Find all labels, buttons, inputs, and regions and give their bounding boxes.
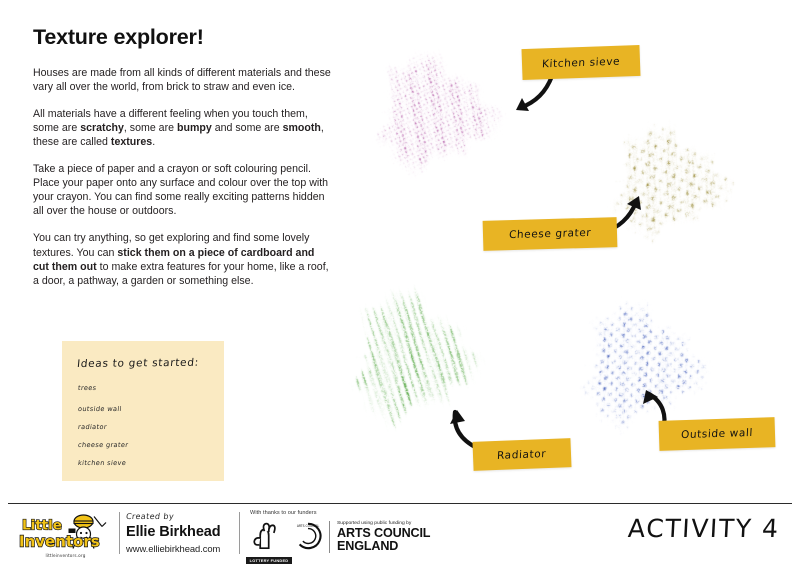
footer-divider xyxy=(8,503,792,504)
plain-text: and some are xyxy=(212,122,283,134)
page-title: Texture explorer! xyxy=(33,26,333,50)
funders-title: With thanks to our funders xyxy=(250,510,430,516)
callout-cheese-grater: Cheese grater xyxy=(483,217,618,251)
plain-text: Houses are made from all kinds of differ… xyxy=(33,67,331,93)
emphasis-text: scratchy xyxy=(80,122,124,134)
logo-text-inventors: Inventors xyxy=(19,533,100,551)
ace-name-line2: ENGLAND xyxy=(337,540,430,553)
lottery-funded-label: LOTTERY FUNDED xyxy=(246,557,292,564)
idea-list-item: trees xyxy=(78,384,219,392)
plain-text: , some are xyxy=(124,122,177,134)
callout-outside-wall: Outside wall xyxy=(659,417,776,451)
callout-outside-wall-label: Outside wall xyxy=(681,427,754,441)
callout-kitchen-sieve: Kitchen sieve xyxy=(521,45,640,80)
idea-list-item: cheese grater xyxy=(78,441,219,449)
arts-council-ring-icon: ARTS COUNCIL xyxy=(294,522,322,550)
callout-cheese-grater-label: Cheese grater xyxy=(509,227,592,241)
body-paragraph: Houses are made from all kinds of differ… xyxy=(33,66,333,94)
kitchen-sieve-texture xyxy=(352,38,512,188)
activity-number: ACTIVITY 4 xyxy=(627,514,780,543)
footer-divider-2 xyxy=(239,512,240,554)
body-paragraph: You can try anything, so get exploring a… xyxy=(33,231,333,287)
ideas-box: Ideas to get started: treesoutside wallr… xyxy=(62,341,224,481)
emphasis-text: smooth xyxy=(283,122,321,134)
callout-kitchen-sieve-label: Kitchen sieve xyxy=(542,55,621,70)
crossed-fingers-icon xyxy=(250,521,284,550)
svg-text:ARTS COUNCIL: ARTS COUNCIL xyxy=(297,524,320,528)
arts-council-text: Supported using public funding by ARTS C… xyxy=(329,521,430,553)
body-paragraph: All materials have a different feeling w… xyxy=(33,107,333,149)
emphasis-text: textures xyxy=(111,136,152,148)
little-inventors-url[interactable]: littleinventors.org xyxy=(18,553,113,558)
funders-block: With thanks to our funders LOTTERY FUNDE… xyxy=(250,510,430,564)
radiator-texture xyxy=(330,275,490,440)
body-text: Houses are made from all kinds of differ… xyxy=(33,66,333,288)
author-credit: Created by Ellie Birkhead www.elliebirkh… xyxy=(126,512,221,554)
plain-text: Take a piece of paper and a crayon or so… xyxy=(33,163,328,217)
ideas-list: treesoutside wallradiatorcheese graterki… xyxy=(78,384,218,467)
emphasis-text: bumpy xyxy=(177,122,212,134)
lottery-funded-logo: LOTTERY FUNDED xyxy=(250,521,292,564)
author-name: Ellie Birkhead xyxy=(126,524,221,541)
text-column: Texture explorer! Houses are made from a… xyxy=(33,26,333,301)
callout-radiator: Radiator xyxy=(472,438,571,471)
idea-list-item: radiator xyxy=(78,423,219,431)
idea-list-item: kitchen sieve xyxy=(78,459,219,467)
plain-text: . xyxy=(152,136,155,148)
ideas-box-heading: Ideas to get started: xyxy=(76,357,199,370)
author-website[interactable]: www.elliebirkhead.com xyxy=(126,543,221,554)
idea-list-item: outside wall xyxy=(78,405,219,413)
logo-text-little: Little xyxy=(22,518,62,534)
footer-divider-1 xyxy=(119,512,120,554)
little-inventors-logo[interactable]: Little Inventors xyxy=(18,511,113,556)
worksheet-page: Texture explorer! Houses are made from a… xyxy=(0,0,800,566)
created-by-label: Created by xyxy=(125,512,221,521)
callout-radiator-label: Radiator xyxy=(497,448,547,462)
body-paragraph: Take a piece of paper and a crayon or so… xyxy=(33,162,333,218)
